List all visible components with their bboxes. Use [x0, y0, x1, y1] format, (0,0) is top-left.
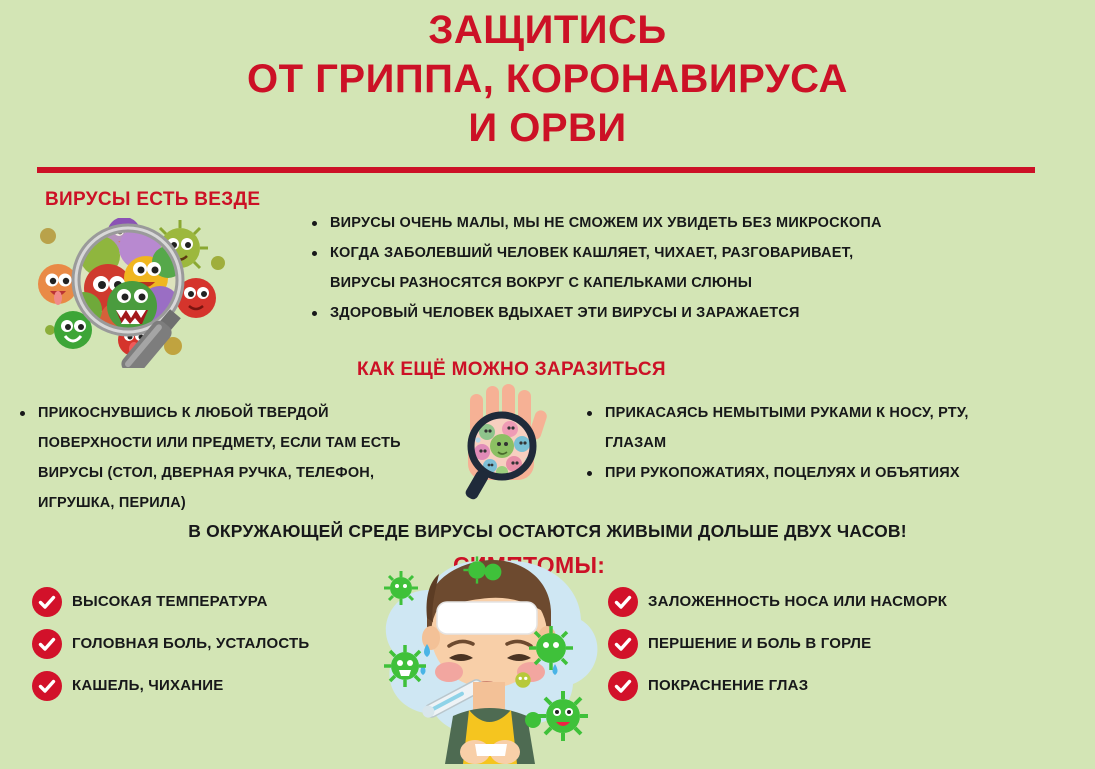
viruses-under-magnifier-illustration	[28, 218, 298, 373]
symptom-label: ПЕРШЕНИЕ И БОЛЬ В ГОРЛЕ	[648, 635, 871, 652]
bullet-text: ВИРУСЫ ОЧЕНЬ МАЛЫ, МЫ НЕ СМОЖЕМ ИХ УВИДЕ…	[330, 215, 882, 231]
title-line-3: И ОРВИ	[0, 104, 1095, 153]
section-heading-viruses-everywhere: ВИРУСЫ ЕСТЬ ВЕЗДЕ	[45, 189, 260, 211]
bullet-text: ПРИКАСАЯСЬ НЕМЫТЫМИ РУКАМИ К НОСУ, РТУ,	[605, 405, 969, 421]
bullet-text: ПРИКОСНУВШИСЬ К ЛЮБОЙ ТВЕРДОЙ	[38, 405, 329, 421]
symptoms-list-right: ЗАЛОЖЕННОСТЬ НОСА ИЛИ НАСМОРК ПЕРШЕНИЕ И…	[608, 583, 947, 709]
bullet-text: ПРИ РУКОПОЖАТИЯХ, ПОЦЕЛУЯХ И ОБЪЯТИЯХ	[605, 465, 960, 481]
check-circle-icon	[608, 671, 638, 701]
sick-child-with-thermometer-illustration	[365, 548, 615, 769]
list-item: ПРИКАСАЯСЬ НЕМЫТЫМИ РУКАМИ К НОСУ, РТУ, …	[585, 398, 1025, 458]
list-item: КАШЕЛЬ, ЧИХАНИЕ	[32, 667, 309, 704]
transmission-bullet-list: ВИРУСЫ ОЧЕНЬ МАЛЫ, МЫ НЕ СМОЖЕМ ИХ УВИДЕ…	[310, 208, 960, 328]
infographic-poster: ЗАЩИТИСЬ ОТ ГРИППА, КОРОНАВИРУСА И ОРВИ …	[0, 0, 1095, 768]
check-circle-icon	[32, 671, 62, 701]
personal-contact-bullet-list: ПРИКАСАЯСЬ НЕМЫТЫМИ РУКАМИ К НОСУ, РТУ, …	[585, 398, 1025, 488]
list-item: ЗДОРОВЫЙ ЧЕЛОВЕК ВДЫХАЕТ ЭТИ ВИРУСЫ И ЗА…	[310, 298, 960, 328]
bullet-text-continued: ВИРУСЫ РАЗНОСЯТСЯ ВОКРУГ С КАПЕЛЬКАМИ СЛ…	[330, 268, 960, 298]
bullet-text-continued: ВИРУСЫ (СТОЛ, ДВЕРНАЯ РУЧКА, ТЕЛЕФОН,	[38, 458, 438, 488]
list-item: КОГДА ЗАБОЛЕВШИЙ ЧЕЛОВЕК КАШЛЯЕТ, ЧИХАЕТ…	[310, 238, 960, 298]
list-item: ПОКРАСНЕНИЕ ГЛАЗ	[608, 667, 947, 704]
title-line-1: ЗАЩИТИСЬ	[0, 6, 1095, 55]
environment-survival-note: В ОКРУЖАЮЩЕЙ СРЕДЕ ВИРУСЫ ОСТАЮТСЯ ЖИВЫМ…	[0, 521, 1095, 542]
list-item: ПРИКОСНУВШИСЬ К ЛЮБОЙ ТВЕРДОЙ ПОВЕРХНОСТ…	[18, 398, 438, 518]
symptom-label: КАШЕЛЬ, ЧИХАНИЕ	[72, 677, 223, 694]
bullet-text: ЗДОРОВЫЙ ЧЕЛОВЕК ВДЫХАЕТ ЭТИ ВИРУСЫ И ЗА…	[330, 305, 800, 321]
bullet-text-continued: ИГРУШКА, ПЕРИЛА)	[38, 488, 438, 518]
surface-contact-bullet-list: ПРИКОСНУВШИСЬ К ЛЮБОЙ ТВЕРДОЙ ПОВЕРХНОСТ…	[18, 398, 438, 518]
list-item: ГОЛОВНАЯ БОЛЬ, УСТАЛОСТЬ	[32, 625, 309, 662]
bullet-text-continued: ПОВЕРХНОСТИ ИЛИ ПРЕДМЕТУ, ЕСЛИ ТАМ ЕСТЬ	[38, 428, 438, 458]
check-circle-icon	[32, 629, 62, 659]
bullet-text: КОГДА ЗАБОЛЕВШИЙ ЧЕЛОВЕК КАШЛЯЕТ, ЧИХАЕТ…	[330, 245, 853, 261]
symptom-label: ПОКРАСНЕНИЕ ГЛАЗ	[648, 677, 808, 694]
title-line-2: ОТ ГРИППА, КОРОНАВИРУСА	[0, 55, 1095, 104]
check-circle-icon	[608, 587, 638, 617]
list-item: ВИРУСЫ ОЧЕНЬ МАЛЫ, МЫ НЕ СМОЖЕМ ИХ УВИДЕ…	[310, 208, 960, 238]
section-heading-how-else-infected: КАК ЕЩЁ МОЖНО ЗАРАЗИТЬСЯ	[357, 359, 666, 381]
hand-with-germs-magnifier-illustration	[440, 382, 570, 505]
list-item: ЗАЛОЖЕННОСТЬ НОСА ИЛИ НАСМОРК	[608, 583, 947, 620]
check-circle-icon	[32, 587, 62, 617]
list-item: ПЕРШЕНИЕ И БОЛЬ В ГОРЛЕ	[608, 625, 947, 662]
symptoms-list-left: ВЫСОКАЯ ТЕМПЕРАТУРА ГОЛОВНАЯ БОЛЬ, УСТАЛ…	[32, 583, 309, 709]
check-circle-icon	[608, 629, 638, 659]
bullet-text-continued: ГЛАЗАМ	[605, 428, 1025, 458]
list-item: ВЫСОКАЯ ТЕМПЕРАТУРА	[32, 583, 309, 620]
title-divider	[37, 167, 1035, 173]
poster-title: ЗАЩИТИСЬ ОТ ГРИППА, КОРОНАВИРУСА И ОРВИ	[0, 6, 1095, 153]
symptom-label: ВЫСОКАЯ ТЕМПЕРАТУРА	[72, 593, 268, 610]
symptom-label: ГОЛОВНАЯ БОЛЬ, УСТАЛОСТЬ	[72, 635, 309, 652]
symptom-label: ЗАЛОЖЕННОСТЬ НОСА ИЛИ НАСМОРК	[648, 593, 947, 610]
list-item: ПРИ РУКОПОЖАТИЯХ, ПОЦЕЛУЯХ И ОБЪЯТИЯХ	[585, 458, 1025, 488]
